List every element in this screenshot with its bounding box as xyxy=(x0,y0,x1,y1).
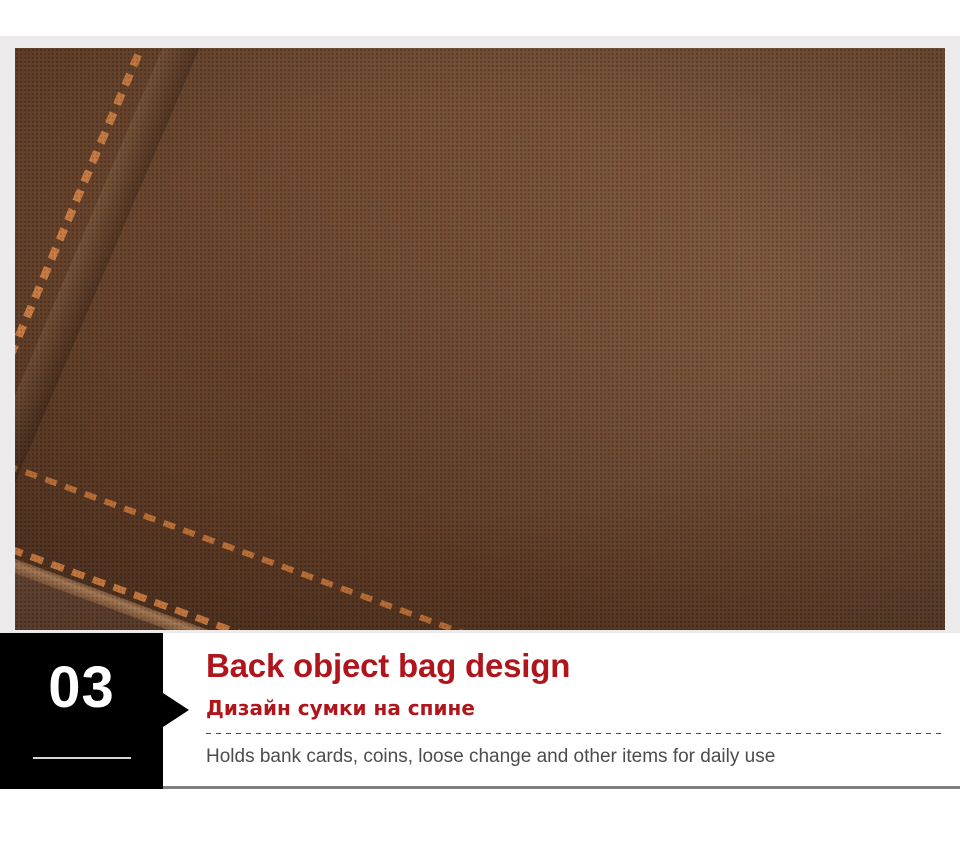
section-description: Holds bank cards, coins, loose change an… xyxy=(206,746,775,769)
photo-inner: 银 uick Pass SSOCIATION xyxy=(15,48,945,630)
caption-text-group: Back object bag design Дизайн сумки на с… xyxy=(206,633,950,788)
section-title-en: Back object bag design xyxy=(206,649,570,684)
product-photo: 银 uick Pass SSOCIATION xyxy=(15,48,945,630)
section-number-box: 03 xyxy=(0,633,163,788)
caption-block: 03 Back object bag design Дизайн сумки н… xyxy=(0,633,960,788)
section-number: 03 xyxy=(0,659,163,717)
caption-dashed-divider xyxy=(206,733,946,734)
section-pointer-arrow-icon xyxy=(163,693,189,727)
bottom-divider-mask xyxy=(0,786,163,789)
leather-upper-inner-stitching xyxy=(15,382,945,630)
section-title-ru: Дизайн сумки на спине xyxy=(206,697,475,719)
product-detail-page: 银 uick Pass SSOCIATION 03 Back object ba xyxy=(0,0,960,841)
leather-upper-edge-stitching xyxy=(15,455,945,630)
section-number-underline xyxy=(33,757,131,759)
